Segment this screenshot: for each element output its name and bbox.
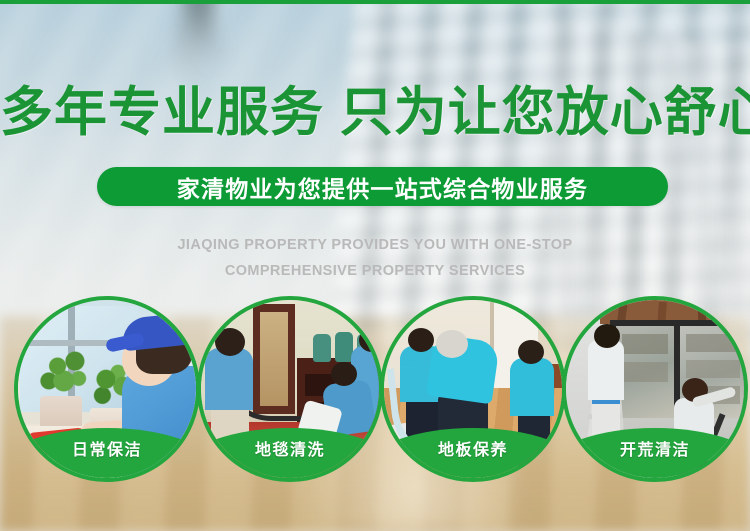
top-green-strip [0,0,750,4]
english-subtitle-line-1: JIAQING PROPERTY PROVIDES YOU WITH ONE-S… [0,232,750,258]
service-card-label: 地板保养 [438,436,508,460]
service-card-carpet-cleaning[interactable]: 地毯清洗 [197,296,383,482]
service-card-label-band: 开荒清洁 [562,428,748,482]
subtitle-pill-label: 家清物业为您提供一站式综合物业服务 [177,170,588,204]
service-card-label: 日常保洁 [72,436,142,460]
service-card-daily-cleaning[interactable]: 日常保洁 [14,296,200,482]
service-card-list: 日常保洁 地毯清洗 [0,296,750,491]
service-card-floor-maintenance[interactable]: 地板保养 [380,296,566,482]
headline: 多年专业服务 只为让您放心舒心 [0,82,750,144]
english-subtitle: JIAQING PROPERTY PROVIDES YOU WITH ONE-S… [0,232,750,284]
promotional-banner: 多年专业服务 只为让您放心舒心 家清物业为您提供一站式综合物业服务 JIAQIN… [0,0,750,531]
subtitle-pill: 家清物业为您提供一站式综合物业服务 [97,167,668,206]
service-card-label: 地毯清洗 [255,436,325,460]
english-subtitle-line-2: COMPREHENSIVE PROPERTY SERVICES [0,258,750,284]
service-card-label-band: 地板保养 [380,428,566,482]
service-card-label-band: 日常保洁 [14,428,200,482]
service-card-post-construction-cleaning[interactable]: 开荒清洁 [562,296,748,482]
service-card-label-band: 地毯清洗 [197,428,383,482]
service-card-label: 开荒清洁 [620,436,690,460]
